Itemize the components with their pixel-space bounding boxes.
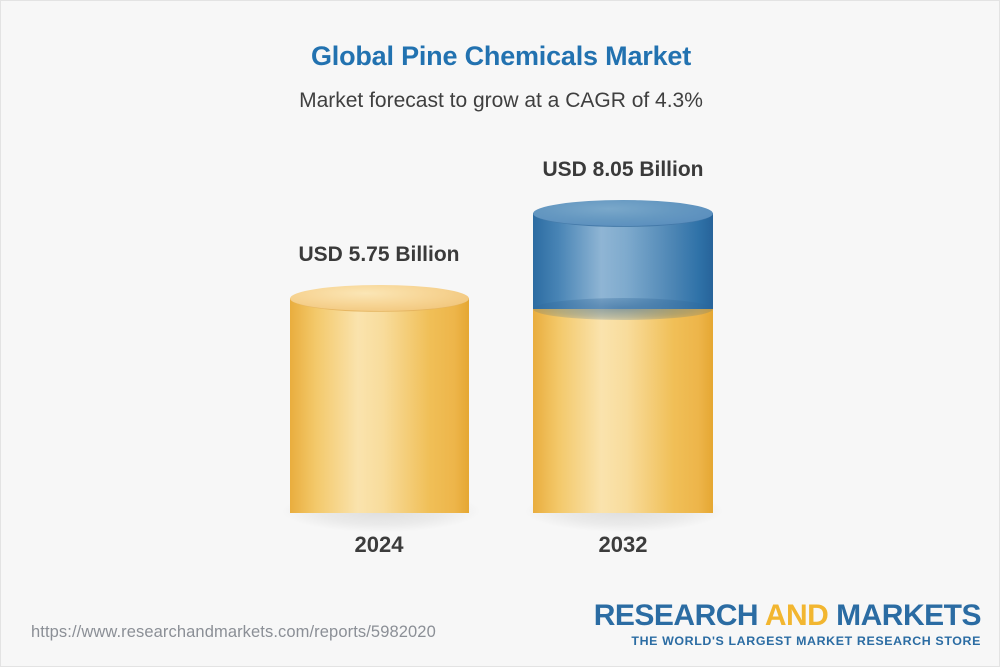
chart-card: Global Pine Chemicals Market Market fore… <box>0 0 1000 667</box>
source-url[interactable]: https://www.researchandmarkets.com/repor… <box>31 623 436 642</box>
bar-body-growth-2032[interactable] <box>533 213 713 309</box>
brand-word-and: AND <box>765 599 829 632</box>
bar-value-label-2024: USD 5.75 Billion <box>219 243 539 267</box>
brand-wordmark: RESEARCH AND MARKETS <box>594 601 981 632</box>
brand-logo[interactable]: RESEARCH AND MARKETS THE WORLD'S LARGEST… <box>594 601 981 648</box>
brand-word-research: RESEARCH <box>594 599 758 632</box>
chart-plot-area: USD 5.75 Billion 2024 USD 8.05 Billion 2… <box>1 1 1000 667</box>
bar-top-ellipse-2032[interactable] <box>533 200 713 227</box>
brand-word-markets: MARKETS <box>836 599 981 632</box>
bar-seam-2032 <box>533 298 713 320</box>
bar-body-base-2032[interactable] <box>533 307 713 513</box>
bar-value-label-2032: USD 8.05 Billion <box>463 158 783 182</box>
bar-top-ellipse-2024[interactable] <box>290 285 469 312</box>
brand-tagline: THE WORLD'S LARGEST MARKET RESEARCH STOR… <box>594 634 981 648</box>
category-label-2032: 2032 <box>463 532 783 558</box>
bar-body-2024[interactable] <box>290 298 469 513</box>
